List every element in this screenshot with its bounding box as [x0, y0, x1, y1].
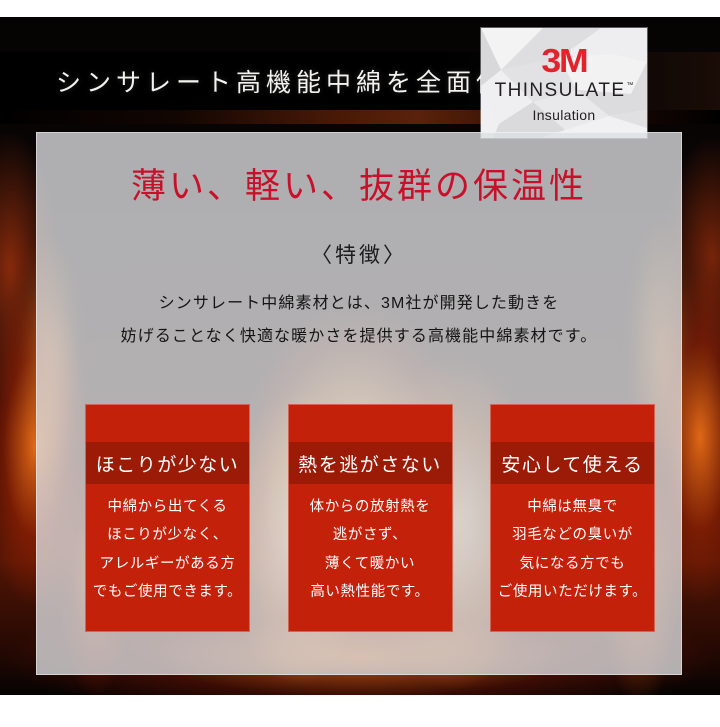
- top-white-trim: [0, 0, 720, 17]
- feature-card-line: 体からの放射熱を: [295, 493, 446, 521]
- lede-paragraph: シンサレート中綿素材とは、3M社が開発した動きを 妨げることなく快適な暖かさを提…: [59, 288, 659, 354]
- thinsulate-logo: 3M THINSULATE ™ Insulation: [481, 28, 647, 138]
- feature-card-line: 中綿から出てくる: [92, 493, 243, 521]
- feature-card-title: ほこりが少ない: [86, 442, 249, 484]
- bottom-white-trim: [0, 695, 720, 727]
- feature-card-title: 熱を逃がさない: [289, 442, 452, 484]
- lede-line: シンサレート中綿素材とは、3M社が開発した動きを: [59, 288, 659, 321]
- feature-card-line: 気になる方でも: [497, 550, 648, 578]
- feature-card: ほこりが少ない 中綿から出てくる ほこりが少なく、 アレルギーがある方 でもご使…: [85, 404, 250, 632]
- feature-card-line: でもご使用できます。: [92, 578, 243, 606]
- lede-line: 妨げることなく快適な暖かさを提供する高機能中綿素材です。: [59, 321, 659, 354]
- logo-thinsulate-wordmark: THINSULATE: [495, 81, 626, 100]
- logo-3m-wordmark: 3M: [541, 44, 586, 77]
- feature-card-line: ご使用いただけます。: [497, 578, 648, 606]
- feature-card-line: アレルギーがある方: [92, 550, 243, 578]
- trademark-symbol: ™: [626, 82, 633, 89]
- feature-card-title: 安心して使える: [491, 442, 654, 484]
- feature-card-body: 中綿は無臭で 羽毛などの臭いが 気になる方でも ご使用いただけます。: [497, 493, 648, 606]
- headline: 薄い、軽い、抜群の保温性: [37, 169, 681, 204]
- feature-card: 熱を逃がさない 体からの放射熱を 逃がさず、 薄くて暖かい 高い熱性能です。: [288, 404, 453, 632]
- feature-card-line: 高い熱性能です。: [295, 578, 446, 606]
- feature-card-line: 羽毛などの臭いが: [497, 521, 648, 549]
- content-panel: 薄い、軽い、抜群の保温性 〈特徴〉 シンサレート中綿素材とは、3M社が開発した動…: [36, 132, 682, 675]
- feature-card-line: 中綿は無臭で: [497, 493, 648, 521]
- logo-insulation-label: Insulation: [533, 108, 596, 122]
- feature-card: 安心して使える 中綿は無臭で 羽毛などの臭いが 気になる方でも ご使用いただけま…: [490, 404, 655, 632]
- feature-card-line: ほこりが少なく、: [92, 521, 243, 549]
- feature-card-list: ほこりが少ない 中綿から出てくる ほこりが少なく、 アレルギーがある方 でもご使…: [85, 404, 655, 632]
- feature-card-line: 逃がさず、: [295, 521, 446, 549]
- feature-card-line: 薄くて暖かい: [295, 550, 446, 578]
- features-subheading: 〈特徴〉: [37, 245, 681, 266]
- feature-card-body: 体からの放射熱を 逃がさず、 薄くて暖かい 高い熱性能です。: [295, 493, 446, 606]
- header-title: シンサレート高機能中綿を全面使用: [56, 52, 536, 110]
- feature-card-body: 中綿から出てくる ほこりが少なく、 アレルギーがある方 でもご使用できます。: [92, 493, 243, 606]
- promo-banner: シンサレート高機能中綿を全面使用 3M: [0, 0, 720, 727]
